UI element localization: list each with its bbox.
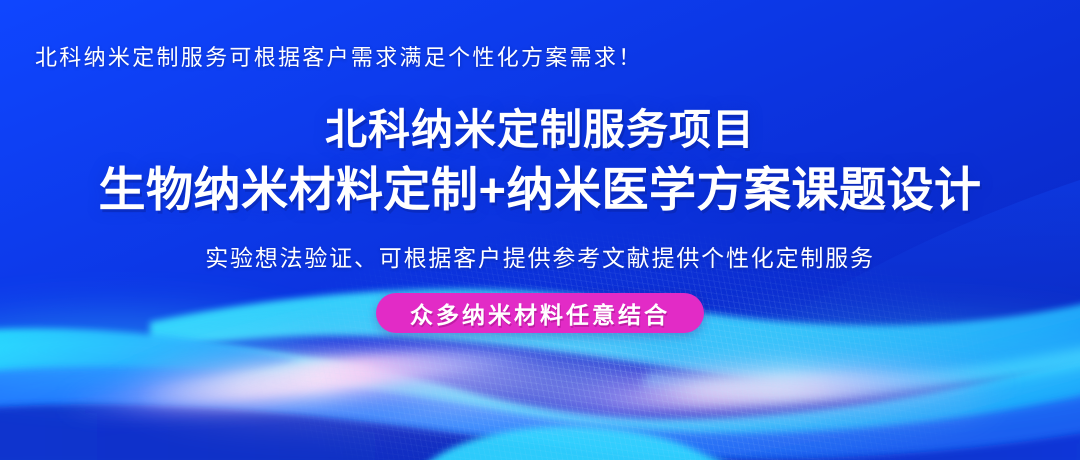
main-title-line-1: 北科纳米定制服务项目	[0, 104, 1080, 156]
subtitle-text: 实验想法验证、可根据客户提供参考文献提供个性化定制服务	[0, 239, 1080, 273]
title-block: 北科纳米定制服务项目 生物纳米材料定制+纳米医学方案课题设计	[0, 104, 1080, 218]
badge-container: 众多纳米材料任意结合	[0, 293, 1080, 333]
banner-content: 北科纳米定制服务可根据客户需求满足个性化方案需求！ 北科纳米定制服务项目 生物纳…	[0, 0, 1080, 460]
main-title-line-2: 生物纳米材料定制+纳米医学方案课题设计	[0, 162, 1080, 218]
highlight-badge: 众多纳米材料任意结合	[376, 293, 704, 333]
eyebrow-text: 北科纳米定制服务可根据客户需求满足个性化方案需求！	[35, 40, 643, 72]
promotional-banner: 北科纳米定制服务可根据客户需求满足个性化方案需求！ 北科纳米定制服务项目 生物纳…	[0, 0, 1080, 460]
